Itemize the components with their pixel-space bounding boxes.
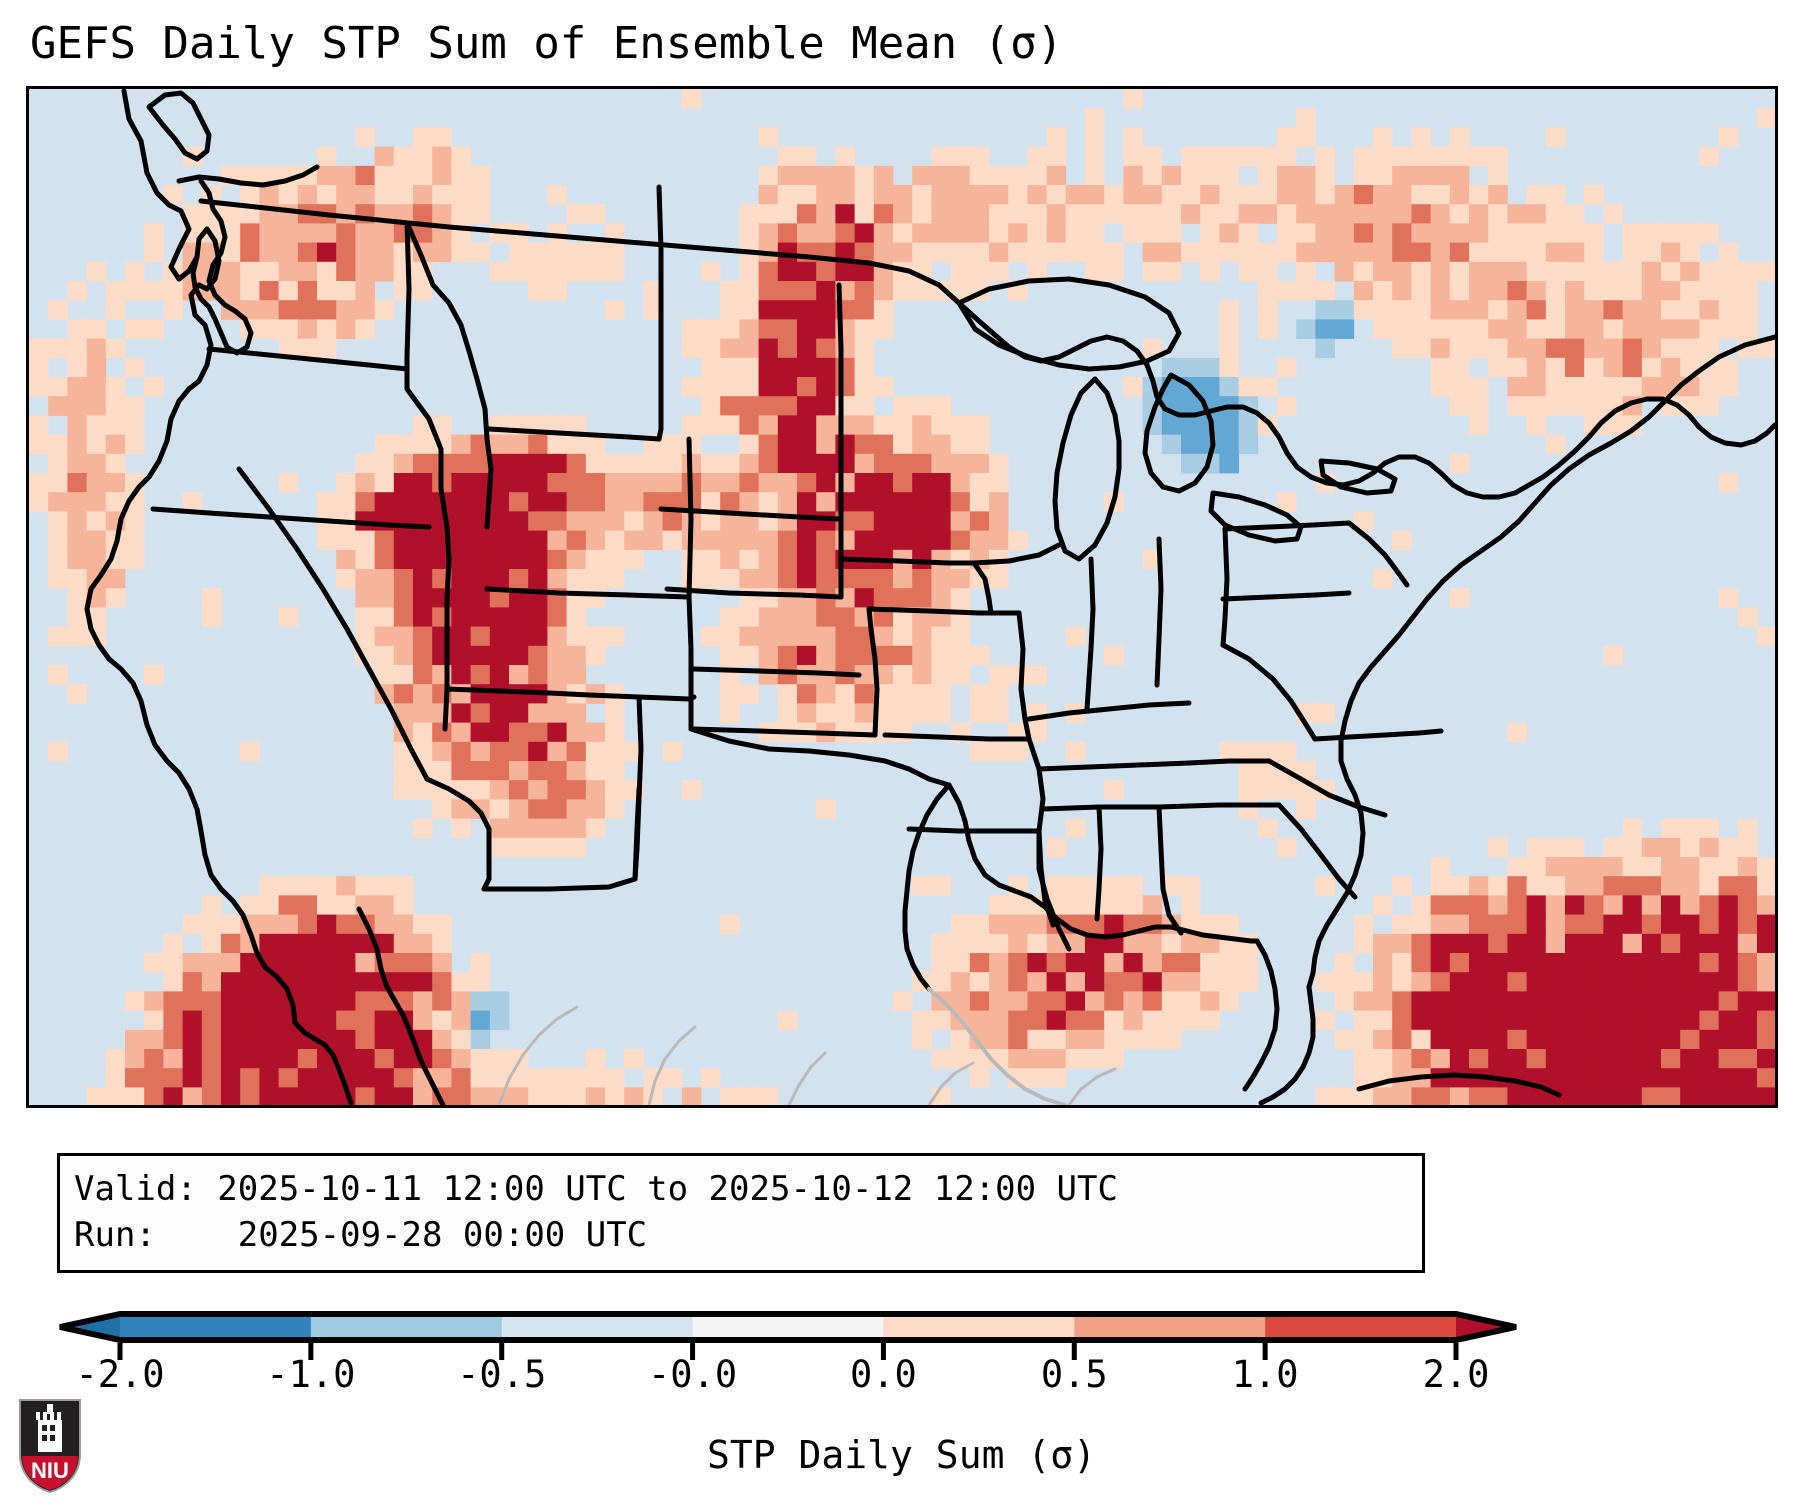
border-wv-va: [1223, 645, 1315, 739]
border-co-nm: [639, 697, 694, 699]
mexico-state-lines: [499, 1007, 1115, 1105]
colorbar-axis-label: STP Daily Sum (σ): [0, 1430, 1803, 1480]
coastline-texas: [905, 785, 949, 989]
border-ks-ok: [693, 729, 875, 735]
border-oh-pa-wv: [1223, 529, 1227, 645]
border-wy-co: [487, 589, 689, 597]
border-nm-mex-tx: [484, 879, 635, 889]
niu-logo: NIU: [18, 1398, 82, 1494]
border-co-ks-ok: [689, 597, 691, 729]
border-or-ca-nv: [153, 509, 429, 527]
niu-logo-text: NIU: [31, 1458, 69, 1483]
border-ok-mo-ar: [869, 609, 877, 735]
coastline-cuba: [1359, 1075, 1559, 1095]
map-geography-overlay: [29, 89, 1775, 1105]
border-ky-tn: [1039, 761, 1269, 769]
page-title: GEFS Daily STP Sum of Ensemble Mean (σ): [30, 16, 1730, 72]
annotation-box-inner: Valid: 2025-10-11 12:00 UTC to 2025-10-1…: [57, 1153, 1425, 1273]
colorbar-tick-label-3: -0.0: [648, 1352, 737, 1398]
border-ut-az: [447, 689, 639, 697]
border-nc-sc: [1269, 761, 1385, 815]
coastline-gulf-of-california: [359, 909, 443, 1105]
border-ia-mo: [869, 609, 1019, 613]
colorbar-tick-label-7: 2.0: [1423, 1352, 1490, 1398]
colorbar-tick-label-6: 1.0: [1232, 1352, 1299, 1398]
border-va-nc: [1315, 731, 1441, 739]
colorbar-tick-label-0: -2.0: [75, 1352, 164, 1398]
border-il-ky: [1029, 703, 1189, 719]
coastline-vancouver-island: [149, 93, 209, 159]
border-wy-ne: [689, 439, 691, 597]
lake-superior: [959, 279, 1179, 369]
border-az-ca-mex: [427, 779, 489, 889]
border-ms-al: [1097, 807, 1101, 919]
colorbar-tick-label-5: 0.5: [1041, 1352, 1108, 1398]
coastline-baja: [295, 1023, 351, 1103]
border-ne-ks: [693, 669, 859, 675]
border-nd-sd: [661, 509, 839, 519]
border-mt-id: [407, 223, 491, 527]
colorbar-tick-label-4: 0.0: [850, 1352, 917, 1398]
coastline-pacific: [87, 91, 295, 1023]
map-axes[interactable]: [26, 86, 1778, 1108]
colorbar-tick-label-1: -1.0: [266, 1352, 355, 1398]
colorbar-segment-1: [311, 1314, 502, 1340]
border-ny-nj-ct: [1349, 523, 1407, 585]
coastline-gulf-florida-west: [1245, 941, 1277, 1089]
lake-michigan: [1055, 379, 1119, 559]
border-sd-ne: [667, 589, 841, 597]
border-il-in: [1087, 559, 1093, 709]
colorbar-svg: [0, 1300, 1803, 1360]
run-time-line: Run: 2025-09-28 00:00 UTC: [74, 1212, 1408, 1258]
colorbar-tick-labels: -2.0-1.0-0.5-0.00.00.51.02.0: [0, 1352, 1803, 1402]
coastline-mexico-gulf: [929, 989, 1065, 1105]
colorbar[interactable]: [0, 1300, 1803, 1360]
border-pa-md: [1223, 593, 1349, 599]
colorbar-segment-3: [693, 1314, 884, 1340]
border-mo-ar: [885, 735, 1029, 739]
border-mt-wy: [489, 429, 659, 439]
colorbar-segment-5: [1074, 1314, 1265, 1340]
colorbar-segment-2: [502, 1314, 693, 1340]
border-ut-nv: [445, 527, 449, 729]
border-ar-la: [909, 829, 1039, 831]
figure-canvas: GEFS Daily STP Sum of Ensemble Mean (σ): [0, 0, 1803, 1506]
border-us-canada-west: [201, 201, 869, 263]
border-sc-ga: [1279, 805, 1355, 897]
colorbar-segment-4: [883, 1314, 1074, 1340]
border-mn-nd-sd: [839, 285, 841, 597]
border-ia-il: [974, 563, 991, 613]
colorbar-segment-6: [1265, 1314, 1456, 1340]
border-wa-or: [209, 349, 407, 369]
colorbar-tick-label-2: -0.5: [457, 1352, 546, 1398]
border-in-oh: [1157, 539, 1161, 685]
border-wi-mi: [974, 545, 1059, 563]
border-nd-mt: [659, 187, 661, 439]
border-al-ga: [1159, 807, 1181, 933]
colorbar-segment-0: [120, 1314, 311, 1340]
border-mn-ia: [841, 559, 974, 563]
border-pa-ny: [1225, 523, 1349, 529]
valid-time-line: Valid: 2025-10-11 12:00 UTC to 2025-10-1…: [74, 1166, 1408, 1212]
map-inner: [29, 89, 1775, 1105]
